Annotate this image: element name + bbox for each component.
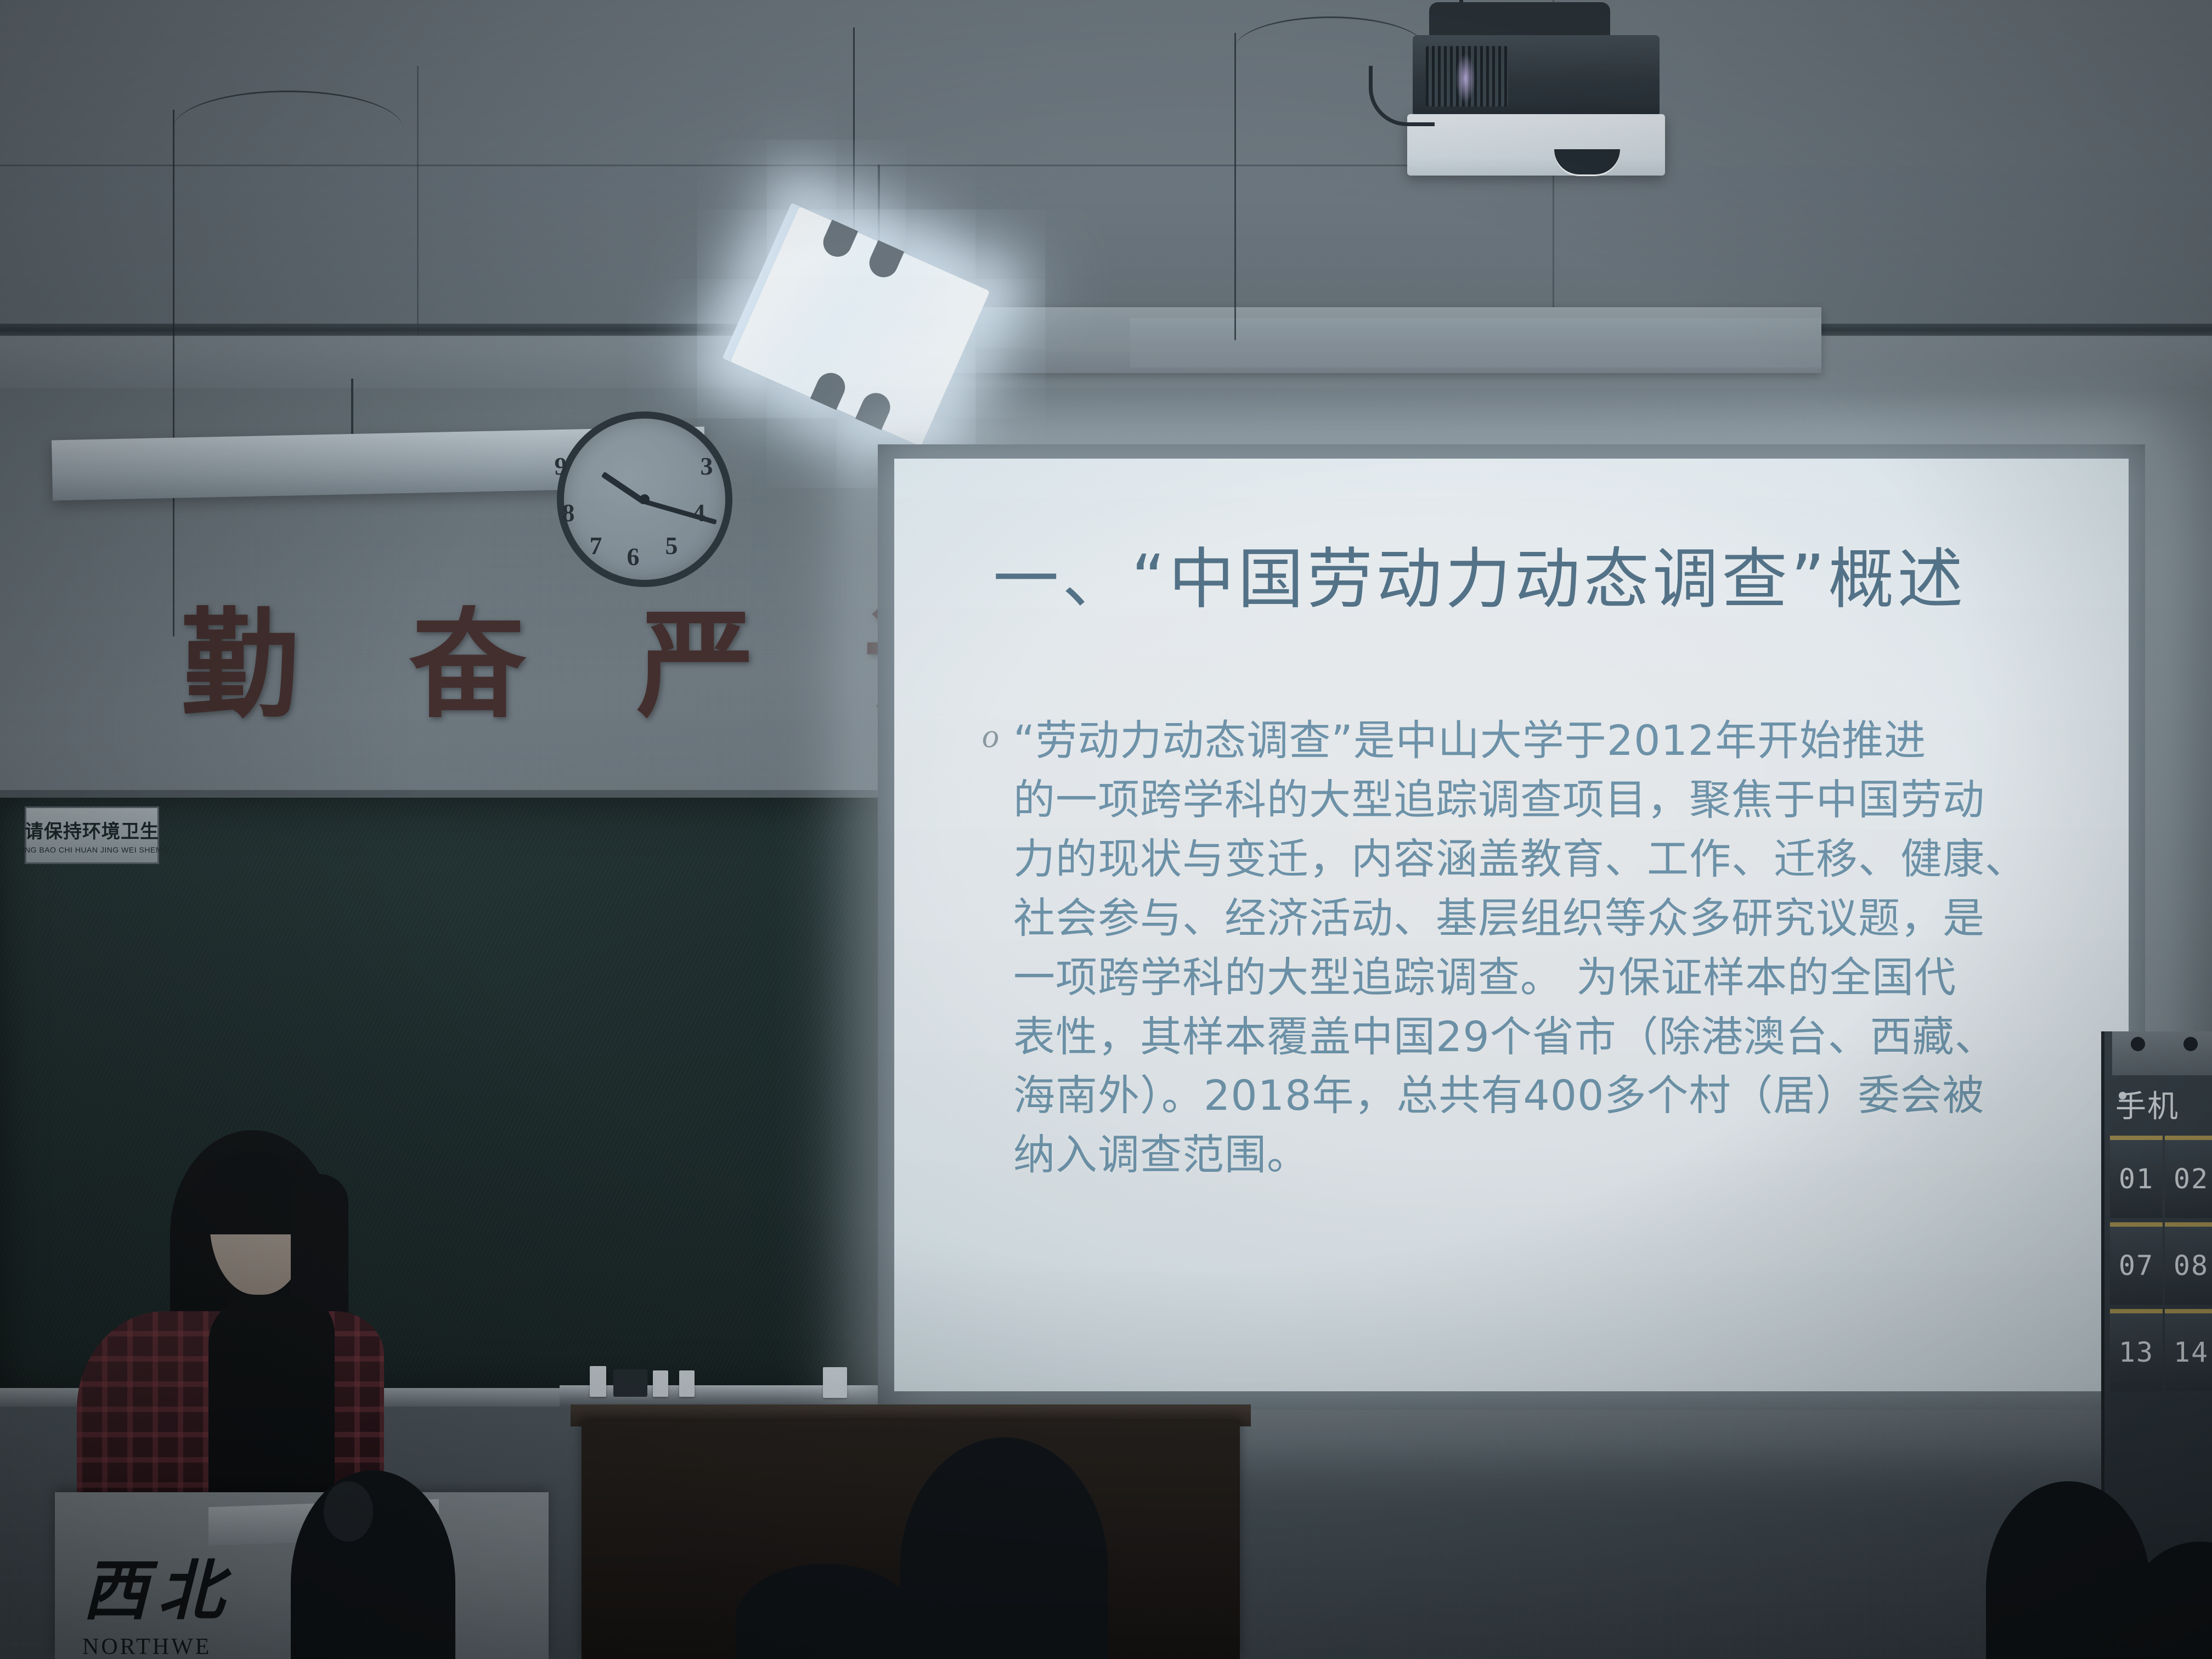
slide-body-line: 纳入调查范围。 xyxy=(1013,1125,2027,1184)
slide-title: 一、“中国劳动力动态调查”概述 xyxy=(993,541,2035,619)
organizer-slot[interactable]: 08 xyxy=(2165,1222,2212,1305)
projector-lamp-glow xyxy=(1455,54,1475,103)
wall-motto: 勤 奋 严 谨 xyxy=(181,606,982,724)
slide-body-line: 社会参与、经济活动、基层组织等众多研究议题，是 xyxy=(1013,889,2027,948)
university-logo-cn: 西北 xyxy=(82,1558,234,1624)
ceiling-projector xyxy=(1407,22,1676,187)
projector-wire xyxy=(1234,33,1236,340)
clock-numeral: 3 xyxy=(691,452,722,481)
motto-char-2: 奋 xyxy=(409,606,527,724)
chalk-piece[interactable] xyxy=(590,1366,606,1397)
cleanliness-sign-chinese: 请保持环境卫生 xyxy=(25,816,159,843)
hook-icon xyxy=(2131,1037,2145,1051)
organizer-slot[interactable]: 02 xyxy=(2165,1136,2212,1218)
organizer-slot[interactable]: 14 xyxy=(2165,1309,2212,1391)
ceiling-seam-1 xyxy=(0,165,1426,166)
light-suspension-rod xyxy=(878,165,880,247)
clock-numeral: 7 xyxy=(580,531,611,560)
hook-icon xyxy=(2183,1037,2198,1051)
clock-center-pin xyxy=(640,494,650,504)
organizer-slot[interactable]: 13 xyxy=(2110,1309,2163,1391)
classroom-photo: 3 4 5 6 7 8 9 勤 奋 严 谨 请保持环境卫生 QING BAO C… xyxy=(0,0,2212,1659)
slide-body-line: 的一项跨学科的大型追踪调查项目，聚焦于中国劳动 xyxy=(1013,770,2027,830)
motto-char-3: 严 xyxy=(636,606,754,724)
cleanliness-sign-pinyin: QING BAO CHI HUAN JING WEI SHENG xyxy=(16,845,168,854)
organizer-hooks xyxy=(2131,1037,2198,1051)
organizer-header xyxy=(2112,1031,2212,1075)
chalk-piece[interactable] xyxy=(823,1367,847,1398)
student-hair-highlight xyxy=(324,1481,373,1542)
organizer-slot[interactable]: 07 xyxy=(2110,1222,2163,1305)
wall-clock: 3 4 5 6 7 8 9 xyxy=(557,411,732,587)
motto-char-1: 勤 xyxy=(181,606,299,724)
ceiling-seam-2 xyxy=(417,66,419,351)
blackboard-eraser[interactable] xyxy=(613,1369,647,1397)
slide-body: o “劳动力动态调查”是中山大学于2012年开始推进 的一项跨学科的大型追踪调查… xyxy=(982,711,2057,1184)
bullet-marker-icon: o xyxy=(982,711,999,1184)
clock-numeral: 5 xyxy=(656,531,687,560)
organizer-slot[interactable]: 01 xyxy=(2110,1136,2163,1218)
slide-body-line: “劳动力动态调查”是中山大学于2012年开始推进 xyxy=(1013,711,2027,770)
organizer-row: 07 08 xyxy=(2110,1222,2212,1305)
slide-body-text: “劳动力动态调查”是中山大学于2012年开始推进 的一项跨学科的大型追踪调查项目… xyxy=(1013,711,2027,1184)
projection-screen-frame: 一、“中国劳动力动态调查”概述 o “劳动力动态调查”是中山大学于2012年开始… xyxy=(878,444,2145,1410)
cleanliness-sign: 请保持环境卫生 QING BAO CHI HUAN JING WEI SHENG xyxy=(25,806,159,864)
slide-body-line: 一项跨学科的大型追踪调查。 为保证样本的全国代 xyxy=(1013,948,2027,1007)
slide-body-line: 表性，其样本覆盖中国29个省市（除港澳台、西藏、 xyxy=(1013,1007,2027,1066)
organizer-title: 手机 xyxy=(2115,1082,2212,1126)
clock-numeral: 9 xyxy=(545,452,576,481)
organizer-row: 01 02 xyxy=(2110,1136,2212,1218)
slide-body-line: 力的现状与变迁，内容涵盖教育、工作、迁移、健康、 xyxy=(1013,830,2027,889)
chalk-piece[interactable] xyxy=(679,1370,695,1397)
organizer-slot-grid: 01 02 07 08 13 14 xyxy=(2110,1136,2212,1396)
slide-body-line: 海南外）。2018年，总共有400多个村（居）委会被 xyxy=(1013,1066,2027,1125)
chalk-piece[interactable] xyxy=(653,1370,668,1397)
clock-numeral: 8 xyxy=(553,498,584,527)
air-duct-secondary xyxy=(1130,318,1821,368)
projection-screen: 一、“中国劳动力动态调查”概述 o “劳动力动态调查”是中山大学于2012年开始… xyxy=(894,459,2129,1391)
projector-body xyxy=(1407,114,1665,176)
hanging-wire-left xyxy=(173,110,174,636)
clock-numeral: 6 xyxy=(618,542,648,571)
university-logo-en: NORTHWE xyxy=(82,1634,211,1659)
organizer-row: 13 14 xyxy=(2110,1309,2212,1391)
lamp-shade-rod xyxy=(351,379,353,436)
